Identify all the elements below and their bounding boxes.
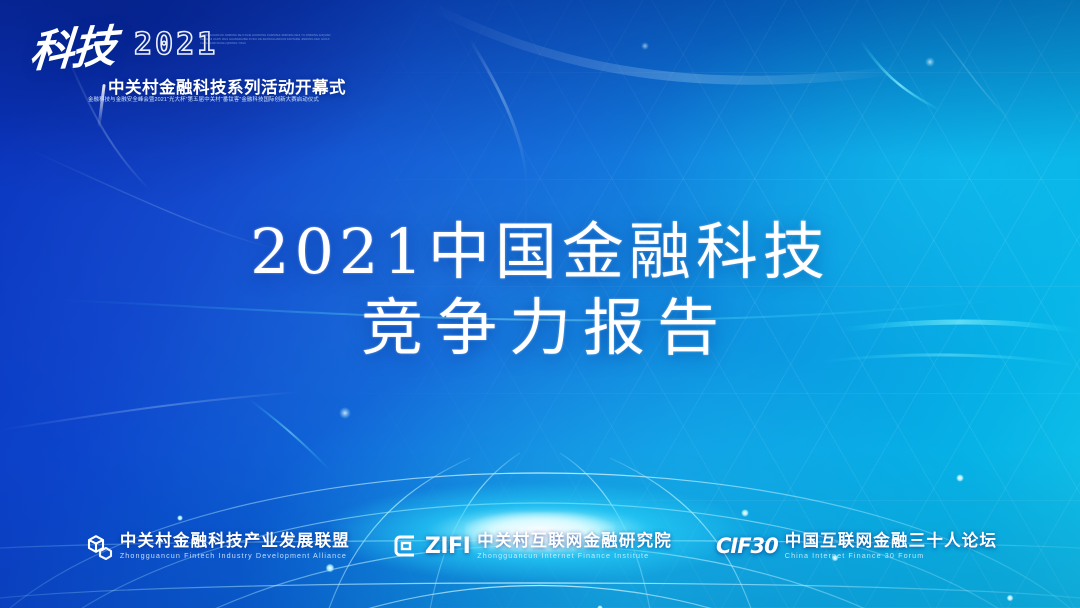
- logo-zgc-fintech-alliance: 中关村金融科技产业发展联盟 Zhongguancun Fintech Indus…: [83, 531, 350, 561]
- event-banner-logo: 科技 2021 ZHONGGUANCUN JINRONG KEJI XILIE …: [22, 22, 342, 102]
- banner-pinyin-microtext: ZHONGGUANCUN JINRONG KEJI XILIE HUODONG …: [200, 34, 340, 48]
- logo-cif30-forum: CIF30 中国互联网金融三十人论坛 China Internet Financ…: [716, 532, 997, 561]
- title-line-1: 2021中国金融科技: [0, 214, 1080, 290]
- presentation-slide: 科技 2021 ZHONGGUANCUN JINRONG KEJI XILIE …: [0, 0, 1080, 608]
- brush-calligraphy-keji: 科技: [28, 25, 116, 75]
- brush-stroke-decoration: [97, 84, 105, 128]
- logo-cn-text: 中关村互联网金融研究院: [477, 532, 672, 551]
- sponsor-logo-row: 中关村金融科技产业发展联盟 Zhongguancun Fintech Indus…: [0, 526, 1080, 566]
- zifi-wordmark: ZIFI: [425, 535, 470, 558]
- zifi-bracket-icon: [394, 533, 418, 559]
- banner-subtitle: 金融科技与金融安全峰会暨2021“光大杯”第五届中关村“番钛客”金融科技国际创新…: [88, 95, 319, 103]
- page-title: 2021中国金融科技 竞争力报告: [0, 214, 1080, 366]
- title-line-2: 竞争力报告: [0, 290, 1080, 366]
- logo-zgc-internet-finance-institute: ZIFI 中关村互联网金融研究院 Zhongguancun Internet F…: [394, 532, 672, 561]
- cube-logo-icon: [83, 531, 113, 561]
- cif30-wordmark: CIF30: [716, 535, 778, 557]
- logo-en-text: Zhongguancun Internet Finance Institute: [477, 551, 672, 561]
- logo-en-text: China Internet Finance 30 Forum: [785, 551, 997, 561]
- logo-cn-text: 中国互联网金融三十人论坛: [785, 532, 997, 551]
- logo-en-text: Zhongguancun Fintech Industry Developmen…: [120, 551, 350, 561]
- logo-cn-text: 中关村金融科技产业发展联盟: [120, 532, 350, 551]
